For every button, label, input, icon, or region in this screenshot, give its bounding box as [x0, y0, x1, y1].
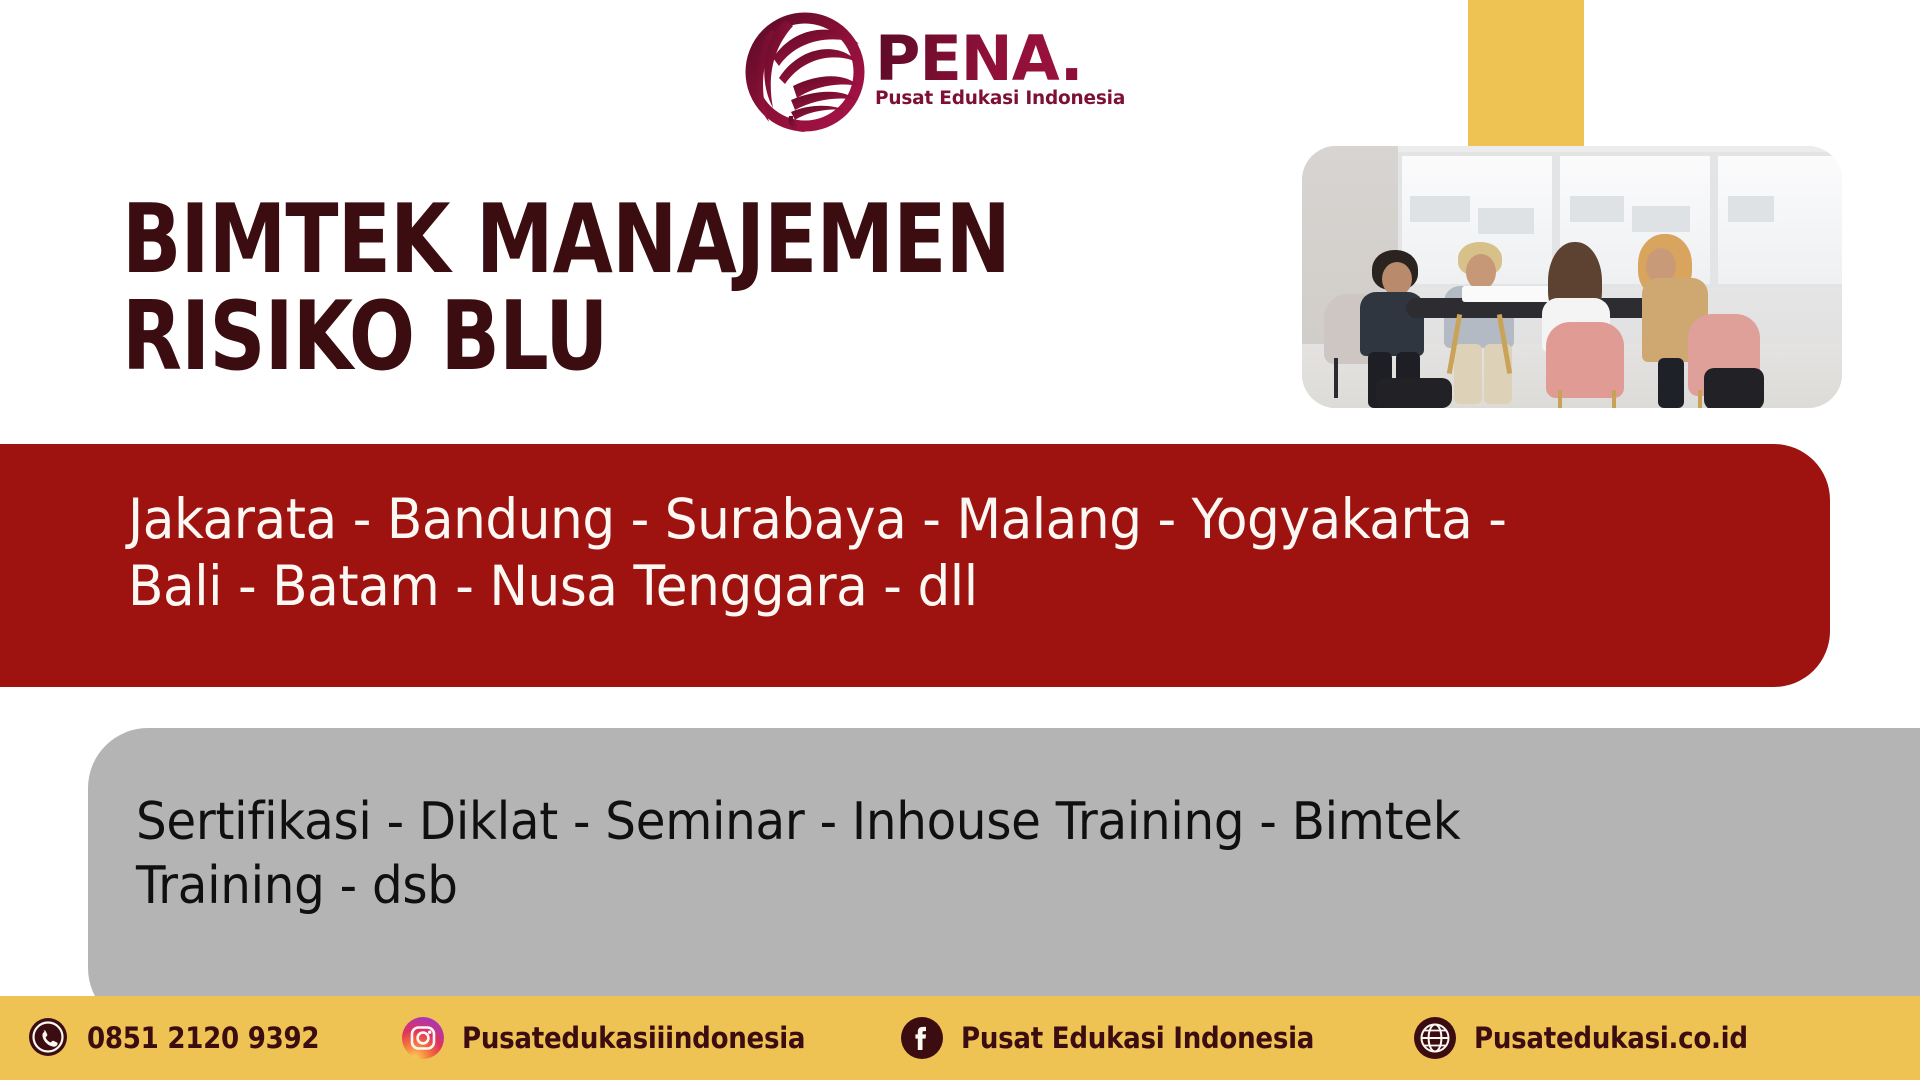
photo-chair — [1546, 322, 1624, 398]
contact-instagram[interactable]: Pusatedukasiiindonesia — [401, 1016, 843, 1060]
photo-chair-leg — [1698, 390, 1702, 408]
photo-cityscape — [1632, 206, 1690, 232]
photo-cityscape — [1570, 196, 1624, 222]
headline-line-1: BIMTEK MANAJEMEN — [122, 192, 1073, 289]
locations-line-1: Jakarata - Bandung - Surabaya - Malang -… — [128, 486, 1726, 553]
promotional-banner: PENA. Pusat Edukasi Indonesia BIMTEK MAN… — [0, 0, 1920, 1080]
contact-website[interactable]: Pusatedukasi.co.id — [1413, 1016, 1778, 1060]
yellow-accent-bar — [1468, 0, 1584, 160]
photo-window — [1714, 152, 1842, 288]
globe-icon — [1413, 1016, 1457, 1060]
facebook-icon — [900, 1016, 944, 1060]
photo-cityscape — [1728, 196, 1774, 222]
photo-chair-leg — [1612, 390, 1616, 408]
instagram-icon — [401, 1016, 445, 1060]
whatsapp-icon — [26, 1016, 70, 1060]
services-line-2: Training - dsb — [136, 854, 1736, 918]
photo-bag — [1704, 368, 1764, 408]
contact-facebook[interactable]: Pusat Edukasi Indonesia — [900, 1016, 1353, 1060]
page-title: BIMTEK MANAJEMEN RISIKO BLU — [122, 192, 1073, 386]
photo-chair-leg — [1334, 358, 1338, 398]
headline-line-2: RISIKO BLU — [122, 289, 1073, 386]
logo-word: PENA. — [875, 30, 1125, 87]
services-line-1: Sertifikasi - Diklat - Seminar - Inhouse… — [136, 790, 1736, 854]
whatsapp-number: 0851 2120 9392 — [87, 1021, 319, 1055]
photo-papers — [1462, 286, 1552, 302]
photo-cityscape — [1410, 196, 1470, 222]
pena-feather-circle-logo-icon — [735, 4, 871, 136]
contact-footer: 0851 2120 9392 Pusatedukasiiindonesia — [0, 996, 1920, 1080]
locations-line-2: Bali - Batam - Nusa Tenggara - dll — [128, 553, 1726, 620]
website-url: Pusatedukasi.co.id — [1474, 1021, 1748, 1055]
photo-cityscape — [1478, 208, 1534, 234]
locations-text: Jakarata - Bandung - Surabaya - Malang -… — [128, 486, 1726, 620]
brand-logo: PENA. Pusat Edukasi Indonesia — [735, 4, 1195, 140]
contact-whatsapp[interactable]: 0851 2120 9392 — [26, 1016, 345, 1060]
photo-bag — [1376, 378, 1452, 408]
facebook-page: Pusat Edukasi Indonesia — [961, 1021, 1314, 1055]
instagram-handle: Pusatedukasiiindonesia — [462, 1021, 805, 1055]
logo-wordmark: PENA. Pusat Edukasi Indonesia — [875, 4, 1125, 109]
logo-tagline: Pusat Edukasi Indonesia — [875, 88, 1125, 109]
services-text: Sertifikasi - Diklat - Seminar - Inhouse… — [136, 790, 1736, 919]
photo-chair-leg — [1558, 390, 1562, 408]
meeting-photo — [1302, 146, 1842, 408]
